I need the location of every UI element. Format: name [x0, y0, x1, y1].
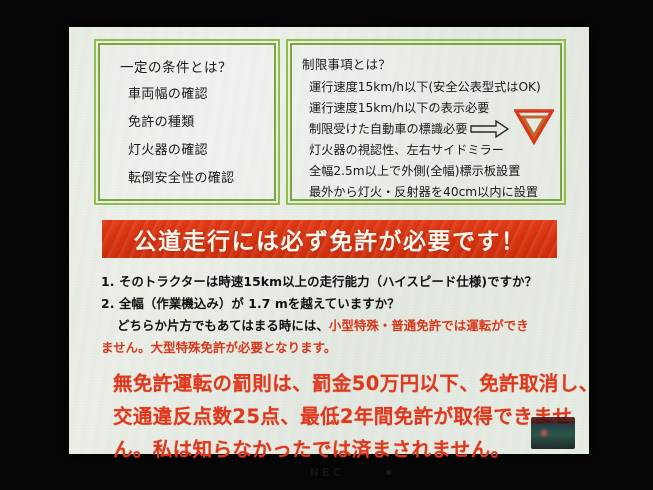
checklist-block: 1. そのトラクターは時速15km以上の走行能力（ハイスピード仕様)ですか？ 2… — [101, 272, 561, 360]
penalty-warning-line: 無免許運転の罰則は、罰金50万円以下、免許取消し、 — [113, 367, 553, 396]
restrictions-item: 最外から灯火・反射器を40cm以内に設置 — [309, 182, 553, 200]
nec-brand-logo: NEC — [0, 466, 653, 479]
checklist-item-1: 1. そのトラクターは時速15km以上の走行能力（ハイスピード仕様)ですか？ — [101, 272, 561, 290]
penalty-warning-line: 交通違反点数25点、最低2年間免許が取得できませ — [113, 400, 553, 429]
checklist-note-line-1: どちらか片方でもあてはまる時には、小型特殊・普通免許では運転ができ — [117, 316, 561, 334]
conditions-item: 転倒安全性の確認 — [128, 167, 268, 186]
restrictions-item: 全幅2.5m以上で外側(全幅)標示板設置 — [309, 161, 553, 179]
sign-illustration-group — [468, 107, 558, 151]
conditions-item: 免許の種類 — [128, 111, 268, 130]
restrictions-item: 運行速度15km/h以下(安全公表型式はOK) — [309, 77, 553, 95]
checklist-note-highlight-start: ません。大型特殊免許が必要となります。 — [101, 340, 336, 355]
right-arrow-outline-icon — [470, 120, 510, 142]
conditions-title: 一定の条件とは？ — [120, 56, 268, 76]
checklist-note-plain: どちらか片方でもあてはまる時には、 — [117, 318, 329, 333]
conditions-item: 灯火器の確認 — [128, 139, 268, 158]
conditions-item: 車両幅の確認 — [128, 83, 268, 102]
presentation-slide: 一定の条件とは？ 車両幅の確認 免許の種類 灯火器の確認 転倒安全性の確認 制限… — [69, 27, 589, 454]
penalty-warning-block: 無免許運転の罰則は、罰金50万円以下、免許取消し、 交通違反点数25点、最低2年… — [113, 367, 553, 466]
restrictions-box: 制限事項とは？ 運行速度15km/h以下(安全公表型式はOK) 運行速度15km… — [290, 43, 562, 201]
projector-photo: NEC 一定の条件とは？ 車両幅の確認 免許の種類 灯火器の確認 転倒安全性の確… — [0, 0, 653, 490]
checklist-note-line-2: ません。大型特殊免許が必要となります。 — [101, 338, 561, 356]
slow-vehicle-triangle-sign-icon — [514, 107, 554, 149]
tractor-thumbnail-image — [531, 417, 575, 449]
power-led-indicator — [386, 470, 391, 475]
restrictions-title: 制限事項とは？ — [302, 54, 553, 73]
banner-text: 公道走行には必ず免許が必要です！ — [134, 222, 526, 256]
penalty-warning-line: ん。私は知らなかったでは済まされません。 — [113, 433, 553, 462]
conditions-box: 一定の条件とは？ 車両幅の確認 免許の種類 灯火器の確認 転倒安全性の確認 — [98, 43, 276, 201]
checklist-item-2: 2. 全幅（作業機込み）が 1.7 mを越えていますか？ — [101, 294, 561, 312]
license-required-banner: 公道走行には必ず免許が必要です！ — [102, 220, 557, 258]
checklist-note-highlight: 小型特殊・普通免許では運転ができ — [329, 318, 529, 333]
